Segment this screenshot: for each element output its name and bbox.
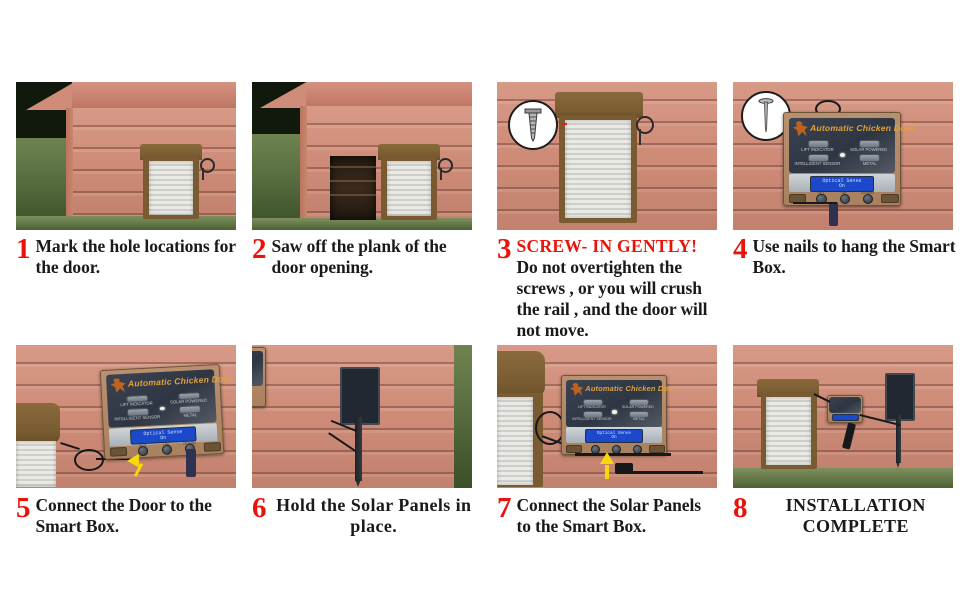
step-body-3: Do not overtighten the screws , or you w… <box>517 257 708 340</box>
lift-indicator-label: LIFT INDICATOR <box>572 405 612 409</box>
power-port-right <box>204 442 222 452</box>
grass-foreground <box>16 216 236 230</box>
device-faceplate: Automatic Chicken Door LIFT INDICATOR SO… <box>789 118 896 173</box>
solar-panel-stake <box>355 417 362 481</box>
step-text-3: SCREW- IN GENTLY! Do not overtighten the… <box>517 236 723 341</box>
rooster-logo-icon <box>793 121 809 136</box>
step-panel-3: 3 SCREW- IN GENTLY! Do not overtighten t… <box>497 82 717 230</box>
step-number-4: 4 <box>733 236 753 262</box>
solar-powered-label: SOLAR POWERED <box>618 405 658 409</box>
stake-tip <box>896 461 900 468</box>
set-button-label: SET <box>132 442 153 448</box>
step-text-7: Connect the Solar Panels to the Smart Bo… <box>517 495 718 537</box>
roof <box>72 82 236 110</box>
smart-box-device: Automatic Chicken Door LIFT INDICATOR SO… <box>561 375 667 455</box>
down-button-label: DOWN <box>856 190 879 195</box>
door-rod <box>639 129 641 145</box>
down-button[interactable] <box>863 194 873 204</box>
status-led <box>612 410 617 413</box>
sensor-indicator-label: INTELLIGENT SENSOR <box>110 414 164 422</box>
door-slats <box>766 397 811 465</box>
door-slats <box>149 161 193 215</box>
lcd-display: Optical Sense On <box>585 429 643 443</box>
step-panel-7: Automatic Chicken Door LIFT INDICATOR SO… <box>497 345 717 488</box>
screw-callout-bubble <box>508 100 558 150</box>
step-panel-8: 8 INSTALLATION COMPLETE <box>733 345 953 488</box>
roof-edge <box>260 82 310 108</box>
step-panel-1: 1 Mark the hole locations for the door. <box>16 82 236 230</box>
smart-box-device <box>827 395 863 423</box>
step-image-4: Automatic Chicken Door LIFT INDICATOR SO… <box>733 82 953 230</box>
device-faceplate: Automatic Chicken Door LIFT INDICATOR SO… <box>566 380 662 427</box>
power-port-right <box>649 445 665 453</box>
stake-tip <box>355 479 361 487</box>
power-port-right <box>881 194 898 203</box>
step-panel-2: 2 Saw off the plank of the door opening. <box>252 82 472 230</box>
device-faceplate <box>829 397 860 413</box>
smart-box-device: Automatic Chicken Door LIFT INDICATOR SO… <box>783 112 901 206</box>
lcd-line-2: On <box>611 436 616 441</box>
power-port-left <box>110 447 128 457</box>
device-brand-label: Automatic Chicken Door <box>810 121 893 135</box>
step-caption-4: 4 Use nails to hang the Smart Box. <box>733 236 963 278</box>
step-caption-6: 6 Hold the Solar Panels in place. <box>252 495 476 537</box>
pointer-arrow-stem <box>605 465 609 479</box>
device-brand-label: Automatic Chicken Door <box>585 383 660 395</box>
step-panel-6: 6 Hold the Solar Panels in place. <box>252 345 472 488</box>
door-slats <box>497 397 533 485</box>
step-text-6: Hold the Solar Panels in place. <box>272 495 477 537</box>
cable <box>793 202 837 204</box>
hole-slat <box>330 180 376 182</box>
step-warning-3: SCREW- IN GENTLY! <box>517 236 723 257</box>
step-text-5: Connect the Door to the Smart Box. <box>36 495 243 537</box>
step-image-1 <box>16 82 236 230</box>
door-hood <box>16 403 60 443</box>
sensor-indicator-label: INTELLIGENT SENSOR <box>791 161 844 166</box>
step-number-2: 2 <box>252 236 272 262</box>
set-button-label: SET <box>811 190 832 195</box>
roof-edge <box>26 82 78 110</box>
step-number-3: 3 <box>497 236 517 262</box>
step-image-5: Automatic Chicken Door LIFT INDICATOR SO… <box>16 345 236 488</box>
door-hood <box>497 351 545 397</box>
door-slats <box>387 161 431 216</box>
step-text-8: INSTALLATION COMPLETE <box>753 495 960 537</box>
step-caption-2: 2 Saw off the plank of the door opening. <box>252 236 484 278</box>
step-number-7: 7 <box>497 495 517 521</box>
device-faceplate <box>252 351 263 386</box>
solar-cable <box>575 453 671 456</box>
device-faceplate: Automatic Chicken Door LIFT INDICATOR SO… <box>106 370 217 428</box>
door-opening-hole <box>330 156 376 220</box>
grass-foreground <box>733 468 953 488</box>
smart-box-edge <box>252 347 266 407</box>
step-caption-3: 3 SCREW- IN GENTLY! Do not overtighten t… <box>497 236 722 341</box>
step-number-8: 8 <box>733 495 753 521</box>
step-caption-7: 7 Connect the Solar Panels to the Smart … <box>497 495 717 537</box>
lift-indicator-label: LIFT INDICATOR <box>795 147 840 152</box>
step-caption-8: 8 INSTALLATION COMPLETE <box>733 495 959 537</box>
step-number-1: 1 <box>16 236 36 262</box>
step-panel-5: Automatic Chicken Door LIFT INDICATOR SO… <box>16 345 236 488</box>
hole-slat <box>330 194 376 196</box>
step-text-1: Mark the hole locations for the door. <box>36 236 249 278</box>
step-image-3 <box>497 82 717 230</box>
status-led <box>160 407 166 411</box>
smart-box-device: Automatic Chicken Door LIFT INDICATOR SO… <box>100 364 225 460</box>
step-panel-4: Automatic Chicken Door LIFT INDICATOR SO… <box>733 82 953 230</box>
nail-icon <box>756 98 776 134</box>
hole-slat <box>330 166 376 168</box>
sensor-indicator-label: INTELLIGENT SENSOR <box>568 417 616 421</box>
door-slats <box>16 441 56 487</box>
step-image-7: Automatic Chicken Door LIFT INDICATOR SO… <box>497 345 717 488</box>
step-image-8 <box>733 345 953 488</box>
step-image-2 <box>252 82 472 230</box>
power-port-left <box>566 445 582 453</box>
solar-powered-label: SOLAR POWERED <box>846 147 891 152</box>
screw-icon <box>520 108 546 142</box>
door-rod <box>440 168 442 180</box>
lcd-line-2: On <box>160 436 166 442</box>
device-brand-label: Automatic Chicken Door <box>128 373 213 391</box>
step-number-5: 5 <box>16 495 36 521</box>
door-cable-plug <box>829 202 838 226</box>
solar-panel <box>885 373 915 421</box>
step-caption-1: 1 Mark the hole locations for the door. <box>16 236 248 278</box>
door-cable-plug <box>186 449 196 477</box>
installation-guide-sheet: 1 Mark the hole locations for the door. <box>0 0 970 600</box>
door-cable-loop <box>74 449 104 471</box>
down-button-label: DOWN <box>178 440 202 446</box>
step-text-2: Saw off the plank of the door opening. <box>272 236 485 278</box>
door-rod <box>202 168 204 180</box>
door-slats <box>565 120 631 218</box>
solar-powered-label: SOLAR POWERED <box>166 398 212 405</box>
pointer-arrow-icon <box>600 452 614 464</box>
lcd-display <box>832 414 858 421</box>
lift-indicator-label: LIFT INDICATOR <box>114 400 160 407</box>
up-button-label: UP <box>155 441 176 447</box>
metal-indicator-label: METAL <box>622 417 656 421</box>
up-button-label: UP <box>834 190 855 195</box>
roof <box>306 82 472 108</box>
up-button[interactable] <box>840 194 850 204</box>
metal-indicator-label: METAL <box>851 161 889 166</box>
rooster-logo-icon <box>110 377 127 393</box>
step-caption-5: 5 Connect the Door to the Smart Box. <box>16 495 242 537</box>
step-text-4: Use nails to hang the Smart Box. <box>753 236 964 278</box>
solar-cable-tail <box>631 471 703 474</box>
grass-edge <box>454 345 472 488</box>
metal-indicator-label: METAL <box>171 412 210 419</box>
status-led <box>840 153 845 157</box>
lcd-line-2: On <box>839 184 845 189</box>
step-image-6 <box>252 345 472 488</box>
rooster-logo-icon <box>570 383 584 396</box>
step-number-6: 6 <box>252 495 272 521</box>
